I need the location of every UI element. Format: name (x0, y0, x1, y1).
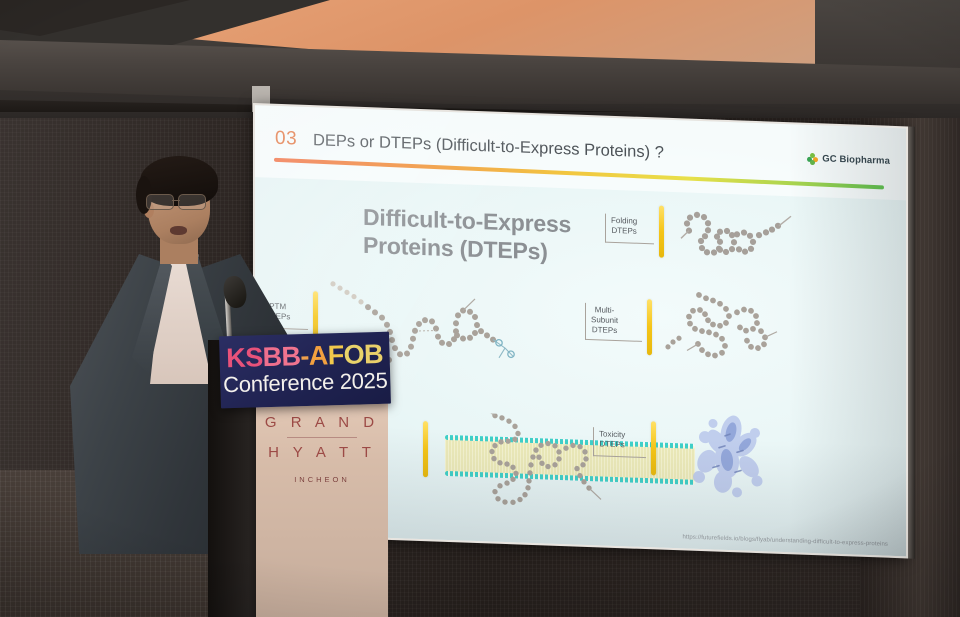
gc-clover-icon (807, 153, 818, 164)
protein-illustration-multi-subunit (665, 288, 815, 385)
sign-letter: B (262, 344, 282, 372)
conference-sign: KSBB-AFOB Conference 2025 (219, 332, 391, 409)
slide-section-number: 03 (275, 128, 297, 151)
conference-photo-scene: 03 DEPs or DTEPs (Difficult-to-Express P… (0, 0, 960, 617)
hotel-location: INCHEON (258, 475, 386, 484)
sign-letter: K (226, 345, 246, 373)
divider-bar-toxicity (651, 421, 656, 475)
hotel-name-line2: H Y A T T (258, 444, 386, 461)
sign-letter: B (281, 343, 301, 371)
conference-sign-subtitle: Conference 2025 (220, 370, 391, 397)
source-url: https://futurefields.io/blogs/flyab/unde… (682, 534, 888, 547)
eyeglasses-icon (144, 194, 216, 209)
sign-letter: B (364, 341, 384, 369)
divider-bar-multi-subunit (647, 299, 652, 355)
bracket-folding (605, 214, 654, 245)
sign-letter: A (308, 342, 328, 370)
bracket-multi-subunit (585, 303, 642, 342)
sign-letter: F (327, 342, 344, 369)
hotel-divider (287, 437, 357, 438)
hotel-branding: G R A N D H Y A T T INCHEON (258, 400, 386, 496)
divider-bar-solubility (423, 421, 428, 477)
slide-title: DEPs or DTEPs (Difficult-to-Express Prot… (313, 131, 664, 163)
sign-letter: O (343, 341, 364, 369)
brand-logo: GC Biopharma (807, 153, 890, 167)
lectern: G R A N D H Y A T T INCHEON KSBB-AFOB Co… (208, 334, 388, 617)
divider-bar-folding (659, 206, 664, 258)
speaker-mouth (170, 226, 187, 235)
sign-letter: S (245, 344, 263, 371)
bracket-toxicity (593, 427, 646, 458)
slide-headline: Difficult-to-Express Proteins (DTEPs) (363, 203, 603, 268)
brand-name: GC Biopharma (822, 153, 890, 166)
protein-illustration-folding (675, 202, 815, 277)
protein-illustration-toxicity (675, 406, 805, 511)
